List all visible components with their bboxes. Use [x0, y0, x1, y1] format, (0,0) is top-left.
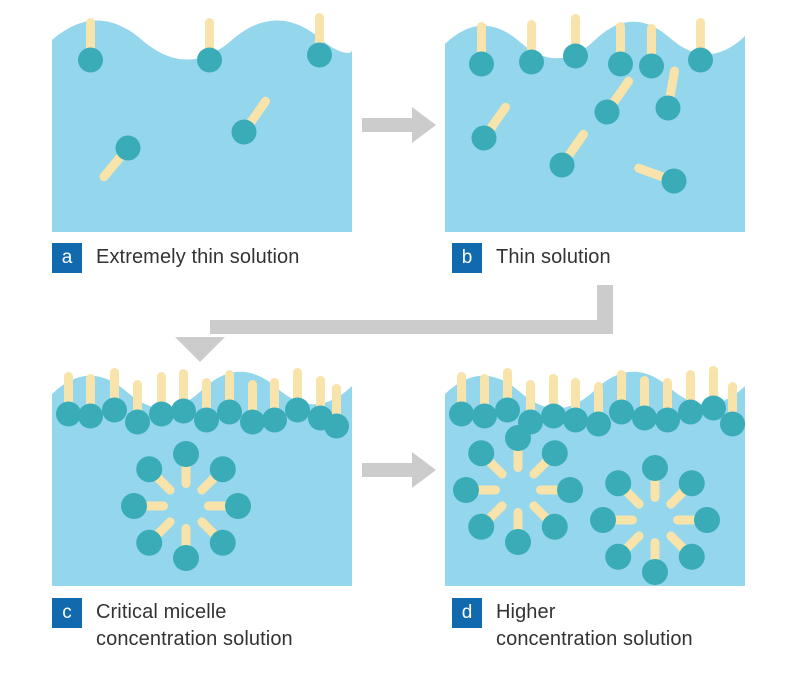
panel-d-illustration — [445, 366, 745, 586]
surfactant-molecule — [171, 369, 196, 424]
arrow-b-to-c — [175, 285, 613, 362]
surfactant-molecule — [285, 368, 310, 423]
caption-text-d: Higher concentration solution — [496, 598, 693, 653]
arrow-c-to-d — [362, 452, 436, 488]
arrow-a-to-b — [362, 107, 436, 143]
caption-b: b Thin solution — [452, 243, 611, 273]
surfactant-concentration-figure: a Extremely thin solution b Thin solutio… — [0, 0, 800, 684]
surfactant-molecule — [541, 374, 566, 429]
panel-badge-d: d — [452, 598, 482, 628]
panel-badge-b: b — [452, 243, 482, 273]
panel-badge-c: c — [52, 598, 82, 628]
caption-a: a Extremely thin solution — [52, 243, 300, 273]
caption-text-c: Critical micelle concentration solution — [96, 598, 293, 653]
surfactant-molecule — [563, 14, 588, 69]
panel-a-illustration — [52, 13, 352, 232]
surfactant-molecule — [149, 372, 174, 427]
panel-badge-a: a — [52, 243, 82, 273]
caption-d: d Higher concentration solution — [452, 598, 693, 653]
caption-text-b: Thin solution — [496, 243, 611, 271]
surfactant-molecule — [197, 18, 222, 73]
figure-canvas — [0, 0, 800, 684]
panel-c-illustration — [52, 368, 352, 586]
caption-c: c Critical micelle concentration solutio… — [52, 598, 293, 653]
caption-text-a: Extremely thin solution — [96, 243, 300, 271]
surfactant-molecule — [701, 366, 726, 421]
panel-b-illustration — [445, 14, 745, 232]
surfactant-molecule — [688, 18, 713, 73]
